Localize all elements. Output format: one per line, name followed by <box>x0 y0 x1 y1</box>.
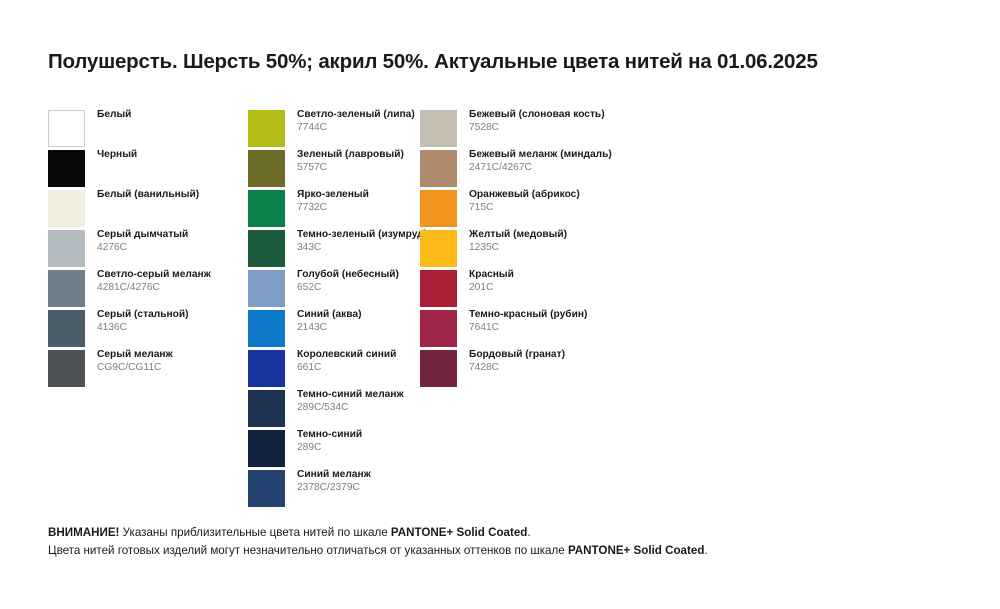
swatch-column-warm-reds: Бежевый (слоновая кость)7528CБежевый мел… <box>420 110 680 390</box>
swatch-row: Белый (ванильный) <box>48 190 238 230</box>
color-swatch <box>248 470 285 507</box>
swatch-name: Черный <box>97 149 137 161</box>
swatch-name: Оранжевый (абрикос) <box>469 189 580 201</box>
swatch-text: Светло-серый меланж4281C/4276C <box>97 269 211 294</box>
color-swatch <box>420 350 457 387</box>
swatch-pantone-code: 7528C <box>469 122 605 134</box>
color-swatch <box>48 350 85 387</box>
footer-line-2-end: . <box>704 544 707 557</box>
swatch-row: Белый <box>48 110 238 150</box>
color-swatch <box>420 150 457 187</box>
footer-note: ВНИМАНИЕ! Указаны приблизительные цвета … <box>48 524 948 560</box>
swatch-text: Темно-синий289C <box>297 429 362 454</box>
swatch-text: Оранжевый (абрикос)715C <box>469 189 580 214</box>
swatch-column-gray-neutrals: БелыйЧерныйБелый (ванильный)Серый дымчат… <box>48 110 238 390</box>
swatch-pantone-code: 289C/534C <box>297 402 404 414</box>
swatch-name: Серый меланж <box>97 349 173 361</box>
swatch-row: Темно-зеленый (изумруд)343C <box>248 230 428 270</box>
swatch-row: Бежевый (слоновая кость)7528C <box>420 110 680 150</box>
swatch-row: Ярко-зеленый7732C <box>248 190 428 230</box>
swatch-pantone-code: 1235C <box>469 242 567 254</box>
color-swatch <box>248 350 285 387</box>
swatch-name: Темно-синий меланж <box>297 389 404 401</box>
swatch-name: Темно-синий <box>297 429 362 441</box>
color-card-page: Полушерсть. Шерсть 50%; акрил 50%. Актуа… <box>0 0 1000 609</box>
swatch-name: Темно-зеленый (изумруд) <box>297 229 427 241</box>
footer-brand-1: PANTONE+ Solid Coated <box>391 526 527 539</box>
swatch-name: Голубой (небесный) <box>297 269 399 281</box>
swatch-text: Синий меланж2378C/2379C <box>297 469 371 494</box>
swatch-row: Темно-синий289C <box>248 430 428 470</box>
swatch-name: Зеленый (лавровый) <box>297 149 404 161</box>
swatch-pantone-code: 4136C <box>97 322 189 334</box>
swatch-row: Серый меланжCG9C/CG11C <box>48 350 238 390</box>
swatch-text: Белый <box>97 109 131 121</box>
swatch-pantone-code: 2143C <box>297 322 361 334</box>
swatch-name: Королевский синий <box>297 349 396 361</box>
footer-line-1-end: . <box>527 526 530 539</box>
color-swatch <box>48 110 85 147</box>
swatch-text: Синий (аква)2143C <box>297 309 361 334</box>
swatch-row: Королевский синий661C <box>248 350 428 390</box>
swatch-pantone-code: 4281C/4276C <box>97 282 211 294</box>
swatch-text: Темно-зеленый (изумруд)343C <box>297 229 427 254</box>
swatch-column-greens-blues: Светло-зеленый (липа)7744CЗеленый (лавро… <box>248 110 428 510</box>
swatch-name: Ярко-зеленый <box>297 189 369 201</box>
color-swatch <box>48 270 85 307</box>
swatch-name: Белый <box>97 109 131 121</box>
swatch-text: Желтый (медовый)1235C <box>469 229 567 254</box>
swatch-row: Синий меланж2378C/2379C <box>248 470 428 510</box>
swatch-pantone-code: 7428C <box>469 362 565 374</box>
color-swatch <box>420 190 457 227</box>
swatch-text: Ярко-зеленый7732C <box>297 189 369 214</box>
swatch-row: Бежевый меланж (миндаль)2471C/4267C <box>420 150 680 190</box>
footer-attention-label: ВНИМАНИЕ! <box>48 526 119 539</box>
swatch-pantone-code: 7732C <box>297 202 369 214</box>
color-swatch <box>248 390 285 427</box>
swatch-text: Бежевый (слоновая кость)7528C <box>469 109 605 134</box>
swatch-pantone-code: 7641C <box>469 322 587 334</box>
swatch-text: Бежевый меланж (миндаль)2471C/4267C <box>469 149 612 174</box>
color-swatch <box>248 310 285 347</box>
swatch-text: Голубой (небесный)652C <box>297 269 399 294</box>
swatch-pantone-code: 201C <box>469 282 514 294</box>
color-swatch <box>420 270 457 307</box>
swatch-text: Белый (ванильный) <box>97 189 199 201</box>
page-title: Полушерсть. Шерсть 50%; акрил 50%. Актуа… <box>48 50 968 74</box>
swatch-name: Бежевый меланж (миндаль) <box>469 149 612 161</box>
swatch-text: Серый меланжCG9C/CG11C <box>97 349 173 374</box>
footer-line-2: Цвета нитей готовых изделий могут незнач… <box>48 542 948 560</box>
footer-line-2-text: Цвета нитей готовых изделий могут незнач… <box>48 544 568 557</box>
swatch-name: Белый (ванильный) <box>97 189 199 201</box>
swatch-name: Светло-серый меланж <box>97 269 211 281</box>
swatch-pantone-code: 2378C/2379C <box>297 482 371 494</box>
swatch-pantone-code: 652C <box>297 282 399 294</box>
color-swatch <box>420 310 457 347</box>
swatch-row: Красный201C <box>420 270 680 310</box>
color-swatch <box>48 150 85 187</box>
color-swatch <box>248 230 285 267</box>
swatch-name: Синий (аква) <box>297 309 361 321</box>
swatch-text: Серый (стальной)4136C <box>97 309 189 334</box>
footer-line-1-text: Указаны приблизительные цвета нитей по ш… <box>119 526 390 539</box>
swatch-row: Серый (стальной)4136C <box>48 310 238 350</box>
footer-brand-2: PANTONE+ Solid Coated <box>568 544 704 557</box>
color-swatch <box>248 270 285 307</box>
footer-line-1: ВНИМАНИЕ! Указаны приблизительные цвета … <box>48 524 948 542</box>
swatch-text: Темно-синий меланж289C/534C <box>297 389 404 414</box>
color-swatch <box>420 230 457 267</box>
swatch-pantone-code: 2471C/4267C <box>469 162 612 174</box>
color-swatch <box>420 110 457 147</box>
swatch-row: Черный <box>48 150 238 190</box>
swatch-row: Зеленый (лавровый)5757C <box>248 150 428 190</box>
swatch-row: Серый дымчатый4276C <box>48 230 238 270</box>
swatch-pantone-code: 289C <box>297 442 362 454</box>
swatch-name: Красный <box>469 269 514 281</box>
swatch-row: Светло-серый меланж4281C/4276C <box>48 270 238 310</box>
swatch-name: Бежевый (слоновая кость) <box>469 109 605 121</box>
swatch-text: Темно-красный (рубин)7641C <box>469 309 587 334</box>
swatch-pantone-code: 661C <box>297 362 396 374</box>
swatch-row: Оранжевый (абрикос)715C <box>420 190 680 230</box>
swatch-name: Серый (стальной) <box>97 309 189 321</box>
swatch-name: Синий меланж <box>297 469 371 481</box>
swatch-row: Темно-синий меланж289C/534C <box>248 390 428 430</box>
swatch-row: Светло-зеленый (липа)7744C <box>248 110 428 150</box>
color-swatch <box>48 190 85 227</box>
color-swatch <box>48 310 85 347</box>
swatch-text: Королевский синий661C <box>297 349 396 374</box>
swatch-text: Зеленый (лавровый)5757C <box>297 149 404 174</box>
swatch-pantone-code: 5757C <box>297 162 404 174</box>
color-swatch <box>48 230 85 267</box>
color-swatch <box>248 430 285 467</box>
swatch-pantone-code: 715C <box>469 202 580 214</box>
swatch-row: Желтый (медовый)1235C <box>420 230 680 270</box>
swatch-text: Красный201C <box>469 269 514 294</box>
swatch-text: Бордовый (гранат)7428C <box>469 349 565 374</box>
color-swatch <box>248 110 285 147</box>
swatch-name: Бордовый (гранат) <box>469 349 565 361</box>
swatch-name: Светло-зеленый (липа) <box>297 109 415 121</box>
color-swatch <box>248 150 285 187</box>
swatch-name: Серый дымчатый <box>97 229 188 241</box>
swatch-name: Темно-красный (рубин) <box>469 309 587 321</box>
swatch-row: Синий (аква)2143C <box>248 310 428 350</box>
swatch-row: Бордовый (гранат)7428C <box>420 350 680 390</box>
swatch-pantone-code: 4276C <box>97 242 188 254</box>
swatch-text: Серый дымчатый4276C <box>97 229 188 254</box>
swatch-row: Темно-красный (рубин)7641C <box>420 310 680 350</box>
swatch-pantone-code: 343C <box>297 242 427 254</box>
swatch-text: Черный <box>97 149 137 161</box>
swatch-name: Желтый (медовый) <box>469 229 567 241</box>
swatch-pantone-code: CG9C/CG11C <box>97 362 173 374</box>
color-swatch <box>248 190 285 227</box>
swatch-row: Голубой (небесный)652C <box>248 270 428 310</box>
swatch-pantone-code: 7744C <box>297 122 415 134</box>
swatch-text: Светло-зеленый (липа)7744C <box>297 109 415 134</box>
